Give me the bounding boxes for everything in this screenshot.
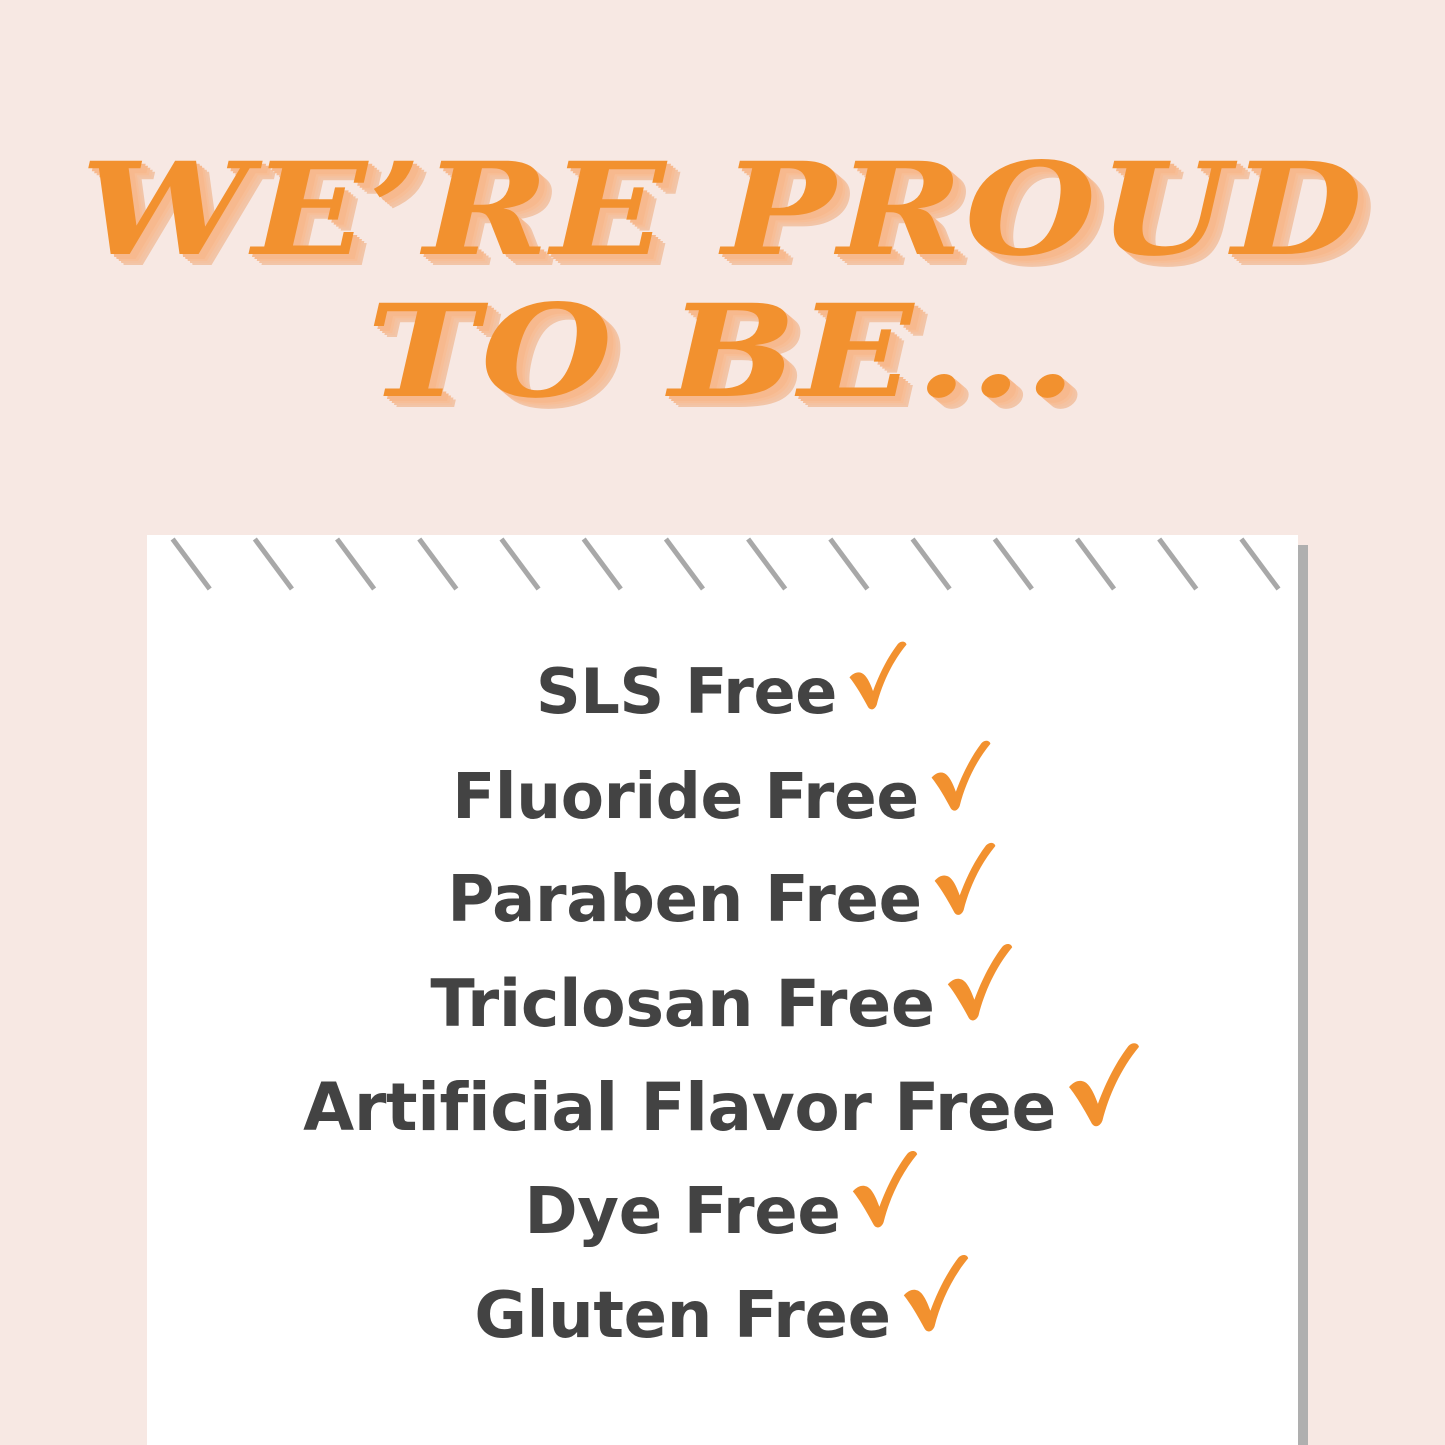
torn-edge-zigzag bbox=[147, 535, 1298, 591]
benefit-label: SLS Free bbox=[536, 661, 837, 723]
benefits-list: SLS Free Fluoride Free Paraben Free bbox=[147, 640, 1298, 1368]
proud-to-be-poster: WE’RE PROUD TO BE... SLS Free Fluor bbox=[0, 0, 1445, 1445]
list-item: Paraben Free bbox=[147, 848, 1298, 952]
benefit-label: Fluoride Free bbox=[452, 765, 919, 828]
orange-checkmark-icon bbox=[1066, 1040, 1142, 1130]
headline-line-1: WE’RE PROUD bbox=[0, 150, 1445, 270]
list-item: SLS Free bbox=[147, 640, 1298, 744]
benefit-label: Dye Free bbox=[525, 1180, 841, 1244]
orange-checkmark-icon bbox=[945, 941, 1015, 1025]
list-item: Dye Free bbox=[147, 1160, 1298, 1264]
list-item: Artificial Flavor Free bbox=[147, 1056, 1298, 1160]
list-item: Fluoride Free bbox=[147, 744, 1298, 848]
benefit-label: Triclosan Free bbox=[430, 972, 934, 1037]
orange-checkmark-icon bbox=[847, 639, 909, 713]
page-title: WE’RE PROUD TO BE... bbox=[0, 150, 1445, 412]
orange-checkmark-icon bbox=[929, 738, 993, 816]
benefit-label: Paraben Free bbox=[447, 868, 921, 932]
list-item: Gluten Free bbox=[147, 1264, 1298, 1368]
torn-edge-icon bbox=[147, 535, 1298, 591]
orange-checkmark-icon bbox=[850, 1148, 920, 1232]
headline-line-2: TO BE... bbox=[0, 292, 1445, 412]
benefit-label: Artificial Flavor Free bbox=[303, 1075, 1056, 1141]
benefit-label: Gluten Free bbox=[474, 1284, 890, 1348]
orange-checkmark-icon bbox=[901, 1252, 971, 1336]
orange-checkmark-icon bbox=[932, 840, 998, 920]
